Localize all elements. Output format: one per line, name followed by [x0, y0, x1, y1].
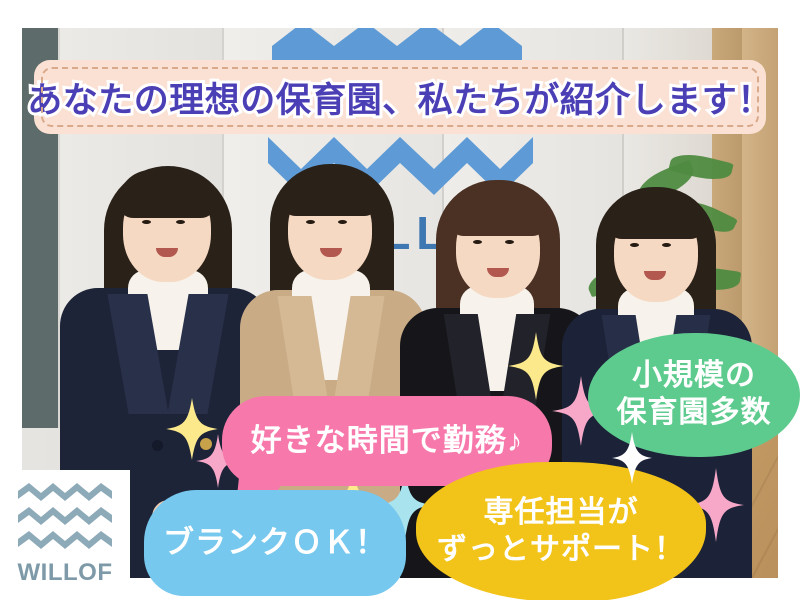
- willof-logo[interactable]: WILLOF: [0, 470, 130, 600]
- sparkle-white-1-icon: [612, 432, 652, 484]
- bubble-green-line1: 小規模の: [617, 358, 772, 395]
- bubble-yellow-line2: ずっとサポート！: [437, 532, 685, 569]
- bubble-yellow-line1: 専任担当が: [437, 495, 685, 532]
- willof-wordmark: WILLOF: [18, 559, 113, 587]
- bubble-dedicated-support[interactable]: 専任担当が ずっとサポート！: [416, 462, 706, 600]
- poster-root: WILL: [0, 0, 800, 600]
- bubble-pink-line1: 好きな時間で勤務♪: [251, 422, 524, 460]
- willof-chevron-icon: [18, 483, 112, 553]
- headline-banner: あなたの理想の保育園、私たちが紹介します！: [34, 60, 766, 134]
- bubble-blue-line1: ブランクＯＫ！: [163, 524, 387, 562]
- headline-text: あなたの理想の保育園、私たちが紹介します！: [27, 72, 773, 123]
- bubble-career-gap-ok[interactable]: ブランクＯＫ！: [144, 490, 406, 596]
- bubble-green-line2: 保育園多数: [617, 395, 772, 432]
